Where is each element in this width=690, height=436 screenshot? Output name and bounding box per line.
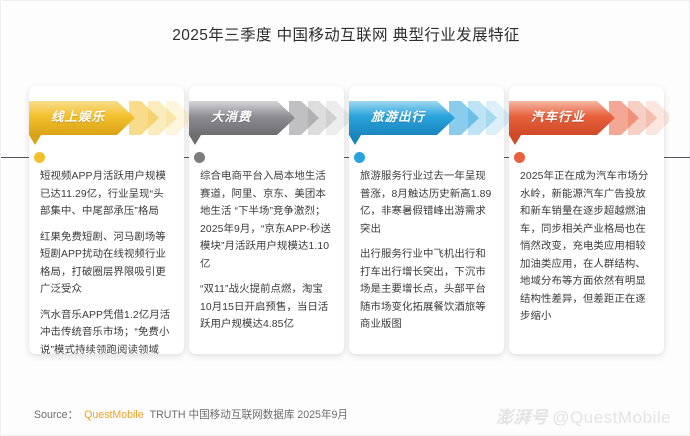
card-body: 综合电商平台入局本地生活赛道，阿里、京东、美团本地生活 “下半场”竞争激烈；20… xyxy=(200,168,334,334)
source-prefix: Source： xyxy=(34,409,78,421)
card-body: 旅游服务行业过去一年呈现普涨，8月触达历史新高1.89亿，非寒暑假错峰出游需求突… xyxy=(360,168,494,334)
source-note: Source：QuestMobileTRUTH 中国移动互联网数据库 2025年… xyxy=(34,407,348,422)
source-brand: QuestMobile xyxy=(84,409,143,421)
watermark-cn: 澎湃号 xyxy=(496,408,549,427)
ribbon-banner: 汽车行业 xyxy=(509,99,669,135)
card-paragraph: 2025年正在成为汽车市场分水岭，新能源汽车广告投放和新车销量在逐步超越燃油车，… xyxy=(520,168,654,326)
source-rest: TRUTH 中国移动互联网数据库 2025年9月 xyxy=(150,409,348,421)
card-paragraph: 综合电商平台入局本地生活赛道，阿里、京东、美团本地生活 “下半场”竞争激烈；20… xyxy=(200,168,334,273)
ribbon-banner: 线上娱乐 xyxy=(29,99,189,135)
timeline-dot xyxy=(34,152,45,163)
industry-card[interactable]: 旅游出行旅游服务行业过去一年呈现普涨，8月触达历史新高1.89亿，非寒暑假错峰出… xyxy=(349,86,504,354)
ribbon-banner: 大消费 xyxy=(189,99,349,135)
timeline-dot xyxy=(194,152,205,163)
industry-card[interactable]: 大消费综合电商平台入局本地生活赛道，阿里、京东、美团本地生活 “下半场”竞争激烈… xyxy=(189,86,344,354)
ribbon-label: 大消费 xyxy=(211,106,252,125)
timeline-dot xyxy=(514,152,525,163)
ribbon-label: 汽车行业 xyxy=(531,106,585,125)
card-body: 短视频APP月活跃用户规模已达11.29亿，行业呈现“头部集中、中尾部承压”格局… xyxy=(40,168,174,359)
industry-card[interactable]: 汽车行业2025年正在成为汽车市场分水岭，新能源汽车广告投放和新车销量在逐步超越… xyxy=(509,86,664,354)
watermark: 澎湃号@QuestMobile xyxy=(496,403,671,428)
ribbon-banner: 旅游出行 xyxy=(349,99,509,135)
card-paragraph: 红果免费短剧、河马剧场等短剧APP扰动在线视频行业格局，打破圈层界限吸引更广泛受… xyxy=(40,229,174,299)
ribbon-label: 旅游出行 xyxy=(371,106,425,125)
card-paragraph: 短视频APP月活跃用户规模已达11.29亿，行业呈现“头部集中、中尾部承压”格局 xyxy=(40,168,174,221)
card-paragraph: 旅游服务行业过去一年呈现普涨，8月触达历史新高1.89亿，非寒暑假错峰出游需求突… xyxy=(360,168,494,238)
infographic-page: 2025年三季度 中国移动互联网 典型行业发展特征 线上娱乐短视频APP月活跃用… xyxy=(0,0,690,436)
watermark-en: @QuestMobile xyxy=(552,408,671,427)
cards-container: 线上娱乐短视频APP月活跃用户规模已达11.29亿，行业呈现“头部集中、中尾部承… xyxy=(1,86,690,356)
card-body: 2025年正在成为汽车市场分水岭，新能源汽车广告投放和新车销量在逐步超越燃油车，… xyxy=(520,168,654,326)
card-paragraph: 汽水音乐APP凭借1.2亿月活冲击传统音乐市场；“免费小说”模式持续领跑阅读领域 xyxy=(40,307,174,360)
industry-card[interactable]: 线上娱乐短视频APP月活跃用户规模已达11.29亿，行业呈现“头部集中、中尾部承… xyxy=(29,86,184,354)
card-paragraph: “双11”战火提前点燃，淘宝10月15日开启预售，当日活跃用户规模达4.85亿 xyxy=(200,281,334,334)
ribbon-label: 线上娱乐 xyxy=(51,106,105,125)
timeline-dot xyxy=(354,152,365,163)
card-paragraph: 出行服务行业中飞机出行和打车出行增长突出，下沉市场是主要增长点，头部平台随市场变… xyxy=(360,246,494,334)
page-title: 2025年三季度 中国移动互联网 典型行业发展特征 xyxy=(1,23,690,45)
